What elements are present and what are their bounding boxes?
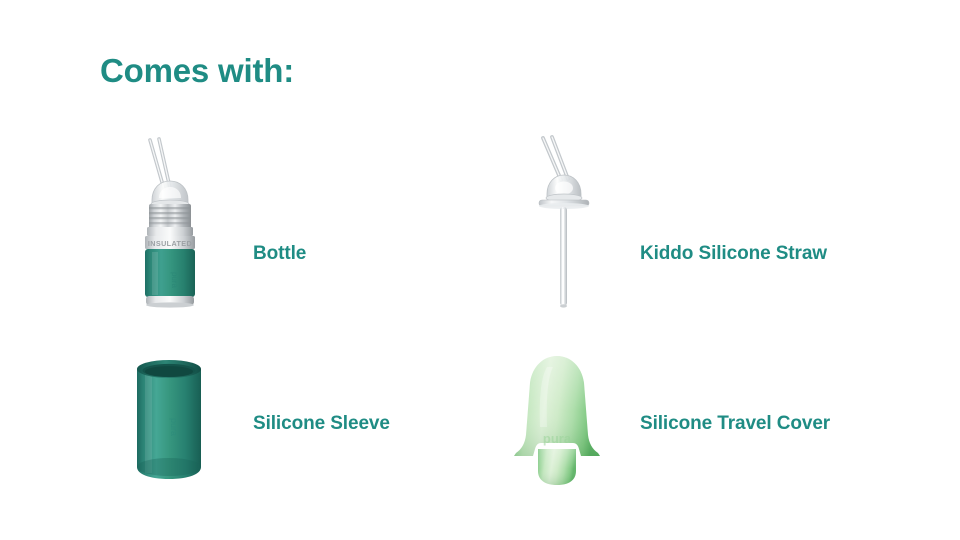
page-title: Comes with: (100, 52, 294, 90)
sleeve-brand-text: pura (169, 418, 179, 436)
kiddo-silicone-straw-image (518, 128, 608, 313)
product-label-bottle: Bottle (253, 243, 306, 265)
straw-lower-tube (560, 207, 567, 308)
product-label-silicone-sleeve: Silicone Sleeve (253, 413, 390, 435)
sleeve-top-rim (137, 360, 201, 378)
insulated-bottle-image: INSULATED pura (128, 128, 212, 313)
product-label-kiddo-silicone-straw: Kiddo Silicone Straw (640, 243, 827, 265)
straw-upper-tubes (543, 137, 568, 180)
product-label-silicone-travel-cover: Silicone Travel Cover (640, 413, 830, 435)
cover-brand-text: pura (543, 431, 572, 446)
bottle-steel-base (146, 296, 194, 308)
sleeve-bottom-shade (137, 458, 201, 476)
bottle-silicone-valve (151, 181, 189, 208)
slide-canvas: Comes with: (0, 0, 960, 540)
bottle-teal-body: pura (145, 249, 195, 297)
silicone-travel-cover-image: pura (505, 353, 610, 488)
silicone-sleeve-image: pura (125, 355, 213, 485)
bottle-insulated-band: INSULATED (145, 236, 195, 249)
cover-center-tab (538, 449, 576, 485)
bottle-brand-text: pura (170, 272, 179, 289)
bottle-insulated-text: INSULATED (148, 239, 192, 248)
bottle-steel-cap (147, 204, 193, 236)
straw-valve-head (546, 175, 582, 202)
